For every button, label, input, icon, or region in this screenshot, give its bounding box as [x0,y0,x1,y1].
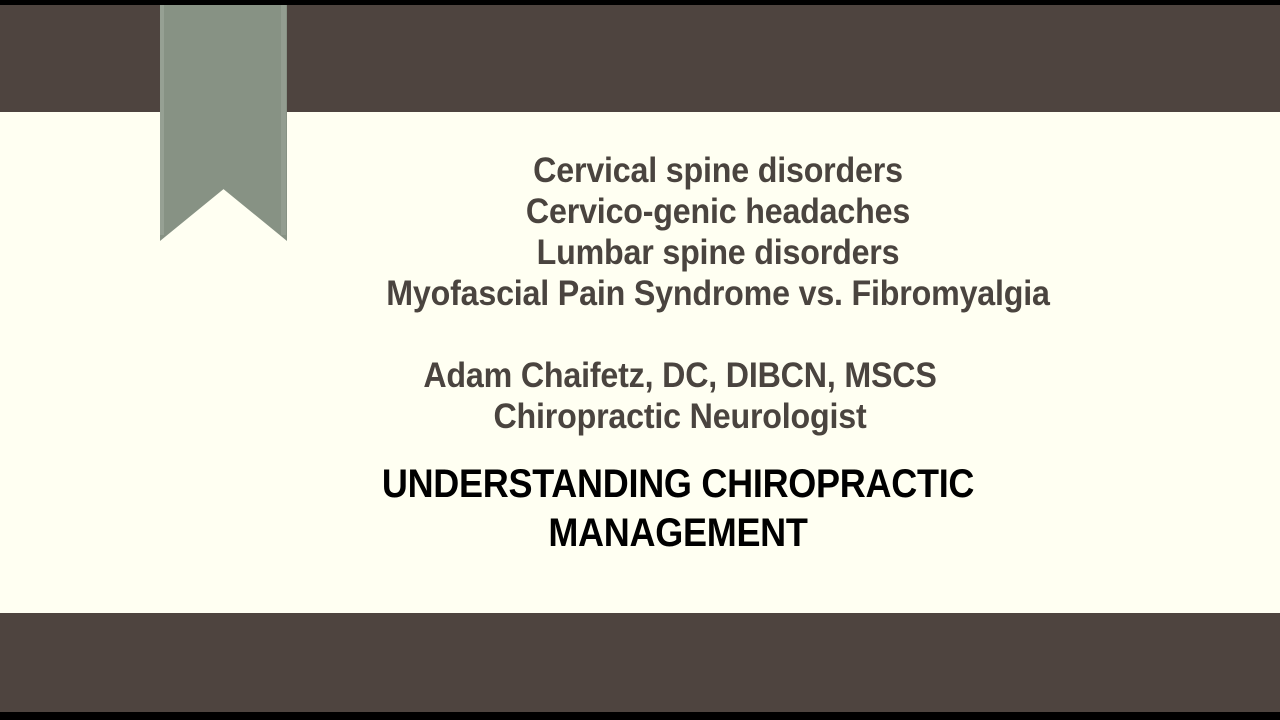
presenter-name: Adam Chaifetz, DC, DIBCN, MSCS [128,355,1232,396]
topics-list: Cervical spine disorders Cervico-genic h… [166,150,1270,314]
topic-line-4: Myofascial Pain Syndrome vs. Fibromyalgi… [166,273,1270,314]
topic-line-2: Cervico-genic headaches [166,191,1270,232]
slide-title: UNDERSTANDING CHIROPRACTIC MANAGEMENT [138,460,1218,558]
slide-title-line-2: MANAGEMENT [138,509,1218,558]
slide-text-layer: Cervical spine disorders Cervico-genic h… [0,112,1280,613]
topic-line-1: Cervical spine disorders [166,150,1270,191]
presentation-slide: Cervical spine disorders Cervico-genic h… [0,0,1280,720]
presenter-role: Chiropractic Neurologist [128,396,1232,437]
letterbox-bottom-bar [0,712,1280,720]
presenter-block: Adam Chaifetz, DC, DIBCN, MSCS Chiroprac… [128,355,1232,437]
footer-band [0,613,1280,712]
topic-line-3: Lumbar spine disorders [166,232,1270,273]
slide-title-line-1: UNDERSTANDING CHIROPRACTIC [138,460,1218,509]
